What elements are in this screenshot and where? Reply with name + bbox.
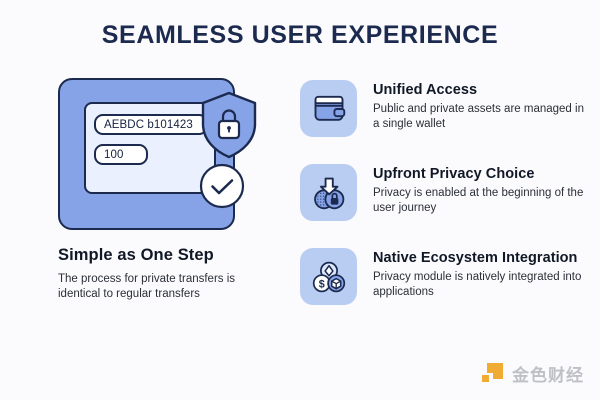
amount-field-value: 100 [104, 149, 124, 161]
address-field-value: AEBDC b101423 [104, 119, 193, 131]
feature-item-native-ecosystem-integration[interactable]: $ Native Ecosystem Integration Privacy m… [300, 248, 585, 305]
download-privacy-icon [300, 164, 357, 221]
ecosystem-network-icon: $ [300, 248, 357, 305]
feature-item-upfront-privacy-choice[interactable]: Upfront Privacy Choice Privacy is enable… [300, 164, 585, 221]
watermark: 金色财经 [480, 361, 584, 386]
feature-title: Native Ecosystem Integration [373, 249, 585, 267]
feature-description: Privacy is enabled at the beginning of t… [373, 186, 585, 215]
feature-description: Privacy module is natively integrated in… [373, 270, 585, 299]
feature-item-unified-access[interactable]: Unified Access Public and private assets… [300, 80, 585, 137]
feature-text-upfront-privacy-choice: Upfront Privacy Choice Privacy is enable… [373, 164, 585, 215]
amount-field[interactable]: 100 [94, 144, 148, 165]
jinse-logo-icon [480, 361, 505, 386]
check-circle-icon [199, 163, 245, 209]
feature-title: Unified Access [373, 81, 585, 99]
transfer-card-illustration: AEBDC b101423 100 [58, 78, 263, 230]
hero-heading: Simple as One Step [58, 246, 286, 265]
page-title: SEAMLESS USER EXPERIENCE [0, 21, 600, 50]
feature-text-native-ecosystem-integration: Native Ecosystem Integration Privacy mod… [373, 248, 585, 299]
wallet-icon [300, 80, 357, 137]
hero-section: AEBDC b101423 100 Simple as One Step The… [58, 78, 286, 302]
feature-list: Unified Access Public and private assets… [300, 80, 585, 332]
feature-description: Public and private assets are managed in… [373, 102, 585, 131]
feature-text-unified-access: Unified Access Public and private assets… [373, 80, 585, 131]
address-field[interactable]: AEBDC b101423 [94, 114, 208, 135]
svg-text:$: $ [318, 278, 324, 290]
watermark-text: 金色财经 [512, 361, 584, 386]
hero-description: The process for private transfers is ide… [58, 272, 273, 302]
feature-title: Upfront Privacy Choice [373, 165, 585, 183]
shield-lock-icon [198, 90, 260, 160]
